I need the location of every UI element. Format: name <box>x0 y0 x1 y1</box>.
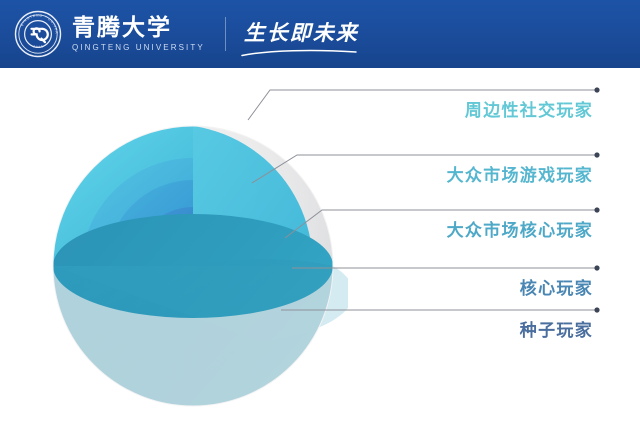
header-content: QINGTENG · UNIVERSITY 2015 青腾大学 <box>14 0 359 68</box>
svg-text:QINGTENG · UNIVERSITY: QINGTENG · UNIVERSITY <box>14 10 59 35</box>
callout-label-2: 大众市场游戏玩家 <box>447 161 593 186</box>
nested-sphere-diagram <box>38 106 348 408</box>
tagline: 生长即未来 <box>244 17 359 51</box>
brand-block: 青腾大学 QINGTENG UNIVERSITY <box>72 16 205 52</box>
leader-dot-2 <box>594 152 599 157</box>
callout-label-3: 大众市场核心玩家 <box>447 216 593 241</box>
diagram-stage: 周边性社交玩家大众市场游戏玩家大众市场核心玩家核心玩家种子玩家 <box>0 68 640 427</box>
header-bar: QINGTENG · UNIVERSITY 2015 青腾大学 <box>0 0 640 68</box>
tagline-underline-swoosh-icon <box>240 48 358 58</box>
callout-label-5: 种子玩家 <box>520 316 593 341</box>
callout-label-4: 核心玩家 <box>520 274 593 299</box>
leader-dot-4 <box>594 265 599 270</box>
svg-text:2015: 2015 <box>33 44 45 49</box>
leader-dot-1 <box>594 87 599 92</box>
tagline-text: 生长即未来 <box>244 20 359 45</box>
brand-name-cn: 青腾大学 <box>72 16 205 39</box>
qingteng-seal-logo-icon: QINGTENG · UNIVERSITY 2015 <box>14 10 62 58</box>
slide-canvas: QINGTENG · UNIVERSITY 2015 青腾大学 <box>0 0 640 427</box>
callout-label-1: 周边性社交玩家 <box>465 96 593 121</box>
leader-dot-3 <box>594 207 599 212</box>
header-divider <box>225 17 226 51</box>
brand-name-en: QINGTENG UNIVERSITY <box>72 44 205 52</box>
leader-dot-5 <box>594 307 599 312</box>
